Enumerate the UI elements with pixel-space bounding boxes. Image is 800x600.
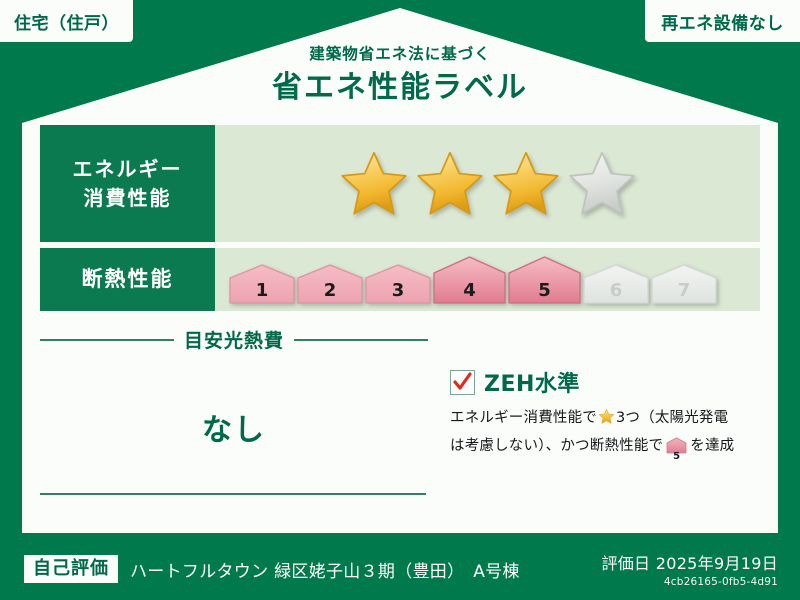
energy-cost-panel: 目安光熱費 なし — [40, 322, 428, 517]
tag-building-type: 住宅（住戸） — [0, 0, 133, 42]
zeh-panel: ZEH水準 エネルギー消費性能で3つ（太陽光発電 は考慮しない）、かつ断熱性能で… — [428, 322, 766, 517]
insulation-grade-chip: 6 — [583, 264, 649, 304]
building-name: ハートフルタウン 緑区姥子山３期（豊田） A号棟 — [130, 557, 520, 582]
insulation-label: 断熱性能 — [40, 248, 215, 311]
ratings-container: エネルギー 消費性能 断熱性能 1234567 — [40, 125, 760, 317]
energy-label-line2: 消費性能 — [84, 184, 172, 212]
energy-cost-title: 目安光熱費 — [184, 326, 284, 353]
insulation-grade-chip: 7 — [651, 264, 717, 304]
insulation-grade-value: 2 — [297, 282, 363, 300]
zeh-desc-part1: エネルギー消費性能で — [450, 410, 597, 426]
evaluation-date: 評価日 2025年9月19日 — [601, 550, 778, 574]
energy-label-line1: エネルギー — [73, 155, 183, 183]
insulation-body: 1234567 — [215, 248, 760, 311]
self-evaluation-badge: 自己評価 — [24, 555, 118, 584]
insulation-grade-chip: 1 — [229, 264, 295, 304]
zeh-checkbox[interactable] — [450, 370, 475, 395]
lower-section: 目安光熱費 なし ZEH水準 エネルギー消費性能で3つ（太陽光発電 は考慮しない… — [40, 322, 766, 517]
energy-cost-value: なし — [40, 405, 428, 449]
check-icon — [453, 372, 472, 392]
inline-star-icon — [598, 413, 615, 429]
insulation-grade-value: 7 — [651, 282, 717, 300]
heading-rule-right — [294, 339, 428, 341]
inline-grade-chip: 5 — [666, 437, 687, 463]
tag-renewable-energy: 再エネ設備なし — [645, 0, 800, 42]
insulation-grade-value: 1 — [229, 282, 295, 300]
star-filled-icon — [414, 149, 486, 219]
zeh-desc-part3: を達成 — [690, 438, 734, 454]
energy-cost-underline — [40, 493, 426, 495]
zeh-heading: ZEH水準 — [450, 366, 766, 398]
insulation-grade-value: 3 — [365, 282, 431, 300]
energy-consumption-label: エネルギー 消費性能 — [40, 125, 215, 242]
insulation-grade-chip: 3 — [365, 264, 431, 304]
insulation-row: 断熱性能 1234567 — [40, 248, 760, 311]
energy-cost-heading: 目安光熱費 — [40, 326, 428, 353]
zeh-description: エネルギー消費性能で3つ（太陽光発電 は考慮しない）、かつ断熱性能で5を達成 — [450, 406, 766, 463]
energy-consumption-body — [215, 125, 760, 242]
header: 建築物省エネ法に基づく 省エネ性能ラベル — [0, 44, 800, 107]
star-filled-icon — [490, 149, 562, 219]
insulation-grade-scale: 1234567 — [229, 256, 717, 304]
insulation-grade-value: 4 — [433, 282, 506, 300]
star-empty-icon — [566, 149, 638, 219]
energy-performance-label: 住宅（住戸） 再エネ設備なし 建築物省エネ法に基づく 省エネ性能ラベル エネルギ… — [0, 0, 800, 600]
star-rating — [338, 149, 638, 219]
footer-meta: 評価日 2025年9月19日 4cb26165-0fb5-4d91 — [601, 550, 778, 588]
insulation-grade-value: 6 — [583, 282, 649, 300]
inline-chip-value: 5 — [666, 452, 687, 462]
insulation-grade-value: 5 — [508, 282, 581, 300]
star-filled-icon — [338, 149, 410, 219]
header-subtitle: 建築物省エネ法に基づく — [0, 44, 800, 64]
insulation-grade-chip: 2 — [297, 264, 363, 304]
page-title: 省エネ性能ラベル — [0, 69, 800, 107]
zeh-title: ZEH水準 — [484, 366, 580, 398]
zeh-desc-stars: 3つ（太陽光発電 — [616, 410, 728, 426]
energy-consumption-row: エネルギー 消費性能 — [40, 125, 760, 242]
insulation-grade-chip: 5 — [508, 256, 581, 304]
footer: 自己評価 ハートフルタウン 緑区姥子山３期（豊田） A号棟 評価日 2025年9… — [0, 538, 800, 600]
zeh-desc-part2: は考慮しない）、かつ断熱性能で — [450, 438, 663, 454]
insulation-grade-chip: 4 — [433, 256, 506, 304]
evaluation-id: 4cb26165-0fb5-4d91 — [601, 576, 778, 588]
heading-rule-left — [40, 339, 174, 341]
